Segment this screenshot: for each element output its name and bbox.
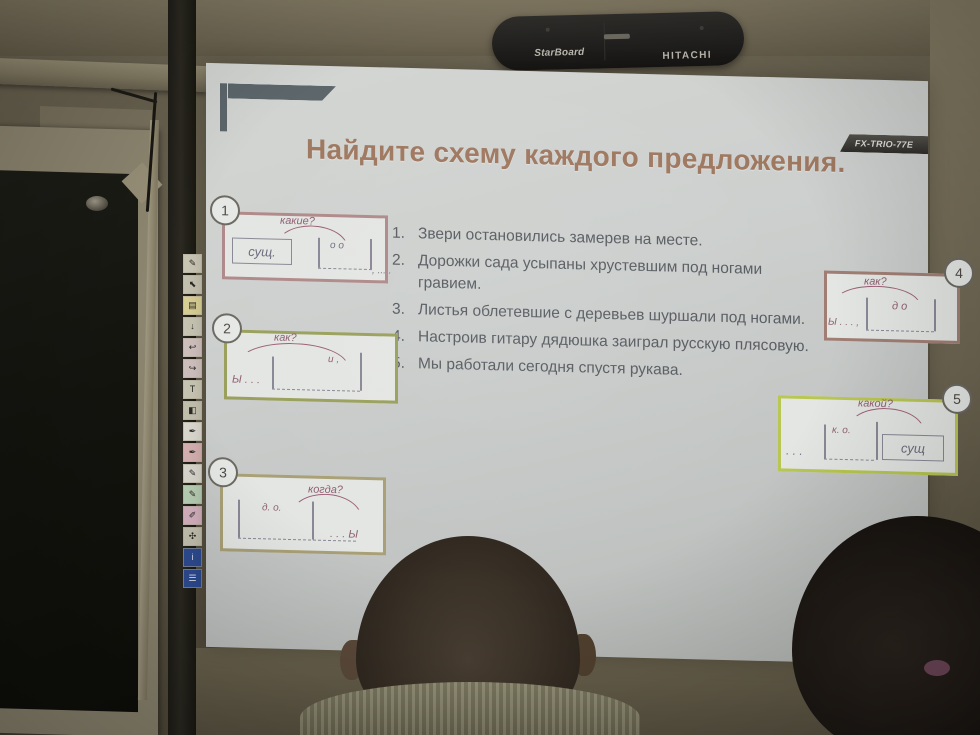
sensor-bar-seam [604,22,606,60]
scheme-card-1[interactable]: 1 сущ. какие? о о , ... . [222,211,388,283]
sensor-dot-left [546,28,550,32]
select-tool-icon[interactable]: ⬉ [183,275,202,294]
scheme-2-question: как? [274,332,297,345]
scheme-3-tail: . . . Ы [330,528,358,541]
eraser-icon[interactable]: ◧ [183,401,202,420]
pen-red-icon[interactable]: ✒ [183,443,202,462]
pen-pink-icon[interactable]: ✐ [183,506,202,525]
redo-arrow-icon[interactable]: ↪ [183,359,202,378]
slide-accent-vbar [220,83,227,131]
scheme-5-tail: . . . [786,444,803,458]
toolbar-icon-glyph: ✎ [189,490,197,499]
pen-tool-icon[interactable]: ✎ [183,254,202,273]
scheme-5-marks: к. о. [832,425,851,436]
scheme-badge-3: 3 [208,457,238,488]
sentence-text: Звери остановились замерев на месте. [418,223,812,255]
settings-blue-icon[interactable]: ☰ [183,569,202,588]
classroom-scene: ✎⬉▤↓↩↪T◧✒✒✎✎✐✣i☰ StarBoard HITACHI FX-TR… [0,0,980,735]
scheme-badge-1: 1 [210,195,240,226]
hitachi-logo-label: HITACHI [662,50,712,62]
sentence-text: Настроив гитару дядюшка заиграл русскую … [418,326,812,358]
scheme-4-question: как? [864,276,887,289]
scheme-2-tail: Ы . . . [232,374,260,387]
slide-accent-bar [228,83,336,101]
note-tool-icon[interactable]: ▤ [183,296,202,315]
scheme-2-vbar-right [360,353,362,391]
sentence-number: 3. [392,299,408,321]
toolbar-icon-glyph: ✒ [189,427,197,436]
toolbar-icon-glyph: ✒ [189,448,197,457]
chalkboard-knob [86,196,108,211]
scheme-5-vbar-left [824,425,826,459]
toolbar-icon-glyph: ↩ [189,343,197,352]
toolbar-icon-glyph: ✣ [189,532,197,541]
scheme-card-5[interactable]: 5 сущ какой? к. о. . . . [778,395,958,476]
pen-black-icon[interactable]: ✒ [183,422,202,441]
scheme-3-marks: д. о. [262,502,281,513]
sentence-list: 1.Звери остановились замерев на месте.2.… [392,223,812,391]
toolbar-icon-glyph: ☰ [188,574,196,583]
scheme-4-vbar-right [934,299,936,331]
scheme-1-tail: , ... . [372,265,391,276]
scheme-border-2 [224,329,398,403]
scheme-badge-5: 5 [942,383,972,414]
sentence-text: Дорожки сада усыпаны хрустевшим под нога… [418,250,812,304]
toolbar-icon-glyph: ✐ [189,511,197,520]
scheme-2-marks: и , [328,354,339,365]
toolbar-icon-glyph: ↪ [189,364,197,373]
slide-title: Найдите схему каждого предложения. [306,133,906,180]
toolbar-icon-glyph: ⬉ [189,280,197,289]
starboard-toolbar[interactable]: ✎⬉▤↓↩↪T◧✒✒✎✎✐✣i☰ [183,254,204,588]
scheme-badge-4: 4 [944,258,974,289]
chalkboard-surface [0,170,138,712]
toolbar-icon-glyph: T [190,385,196,394]
info-blue-icon[interactable]: i [183,548,202,567]
hair-tie [924,660,950,676]
sentence-text: Листья облетевшие с деревьев шуршали под… [418,299,812,331]
toolbar-icon-glyph: ✎ [189,469,197,478]
sentence-text: Мы работали сегодня спустя рукава. [418,353,812,385]
scheme-5-noun-box: сущ [882,434,944,462]
pen-dark-icon[interactable]: ✎ [183,464,202,483]
toolbar-icon-glyph: ✎ [189,259,197,268]
sensor-window [604,34,630,40]
scheme-3-question: когда? [308,483,343,496]
scheme-4-marks: д о [892,300,907,312]
scheme-3-vbar-left [238,500,240,538]
toolbar-icon-glyph: ◧ [188,406,197,415]
scheme-4-tail: Ы . . . , [828,317,859,329]
scheme-card-3[interactable]: 3 когда? д. о. . . . Ы [220,473,386,555]
toolbar-icon-glyph: ↓ [190,322,195,331]
scheme-1-marks: о о [330,240,344,251]
sensor-dot-right [700,26,704,30]
starboard-sensor-bar: StarBoard HITACHI [491,11,744,71]
starboard-brand-label: StarBoard [534,47,584,59]
highlighter-icon[interactable]: ✣ [183,527,202,546]
sentence-item: 5.Мы работали сегодня спустя рукава. [392,353,812,386]
scheme-5-question: какой? [858,397,893,410]
undo-arrow-icon[interactable]: ↩ [183,338,202,357]
scheme-1-question: какие? [280,215,315,228]
scheme-card-4[interactable]: 4 как? д о Ы . . . , [824,271,960,344]
scheme-card-2[interactable]: 2 как? и , Ы . . . [224,329,398,403]
sentence-item: 2.Дорожки сада усыпаны хрустевшим под но… [392,250,812,305]
toolbar-icon-glyph: i [192,553,194,562]
sentence-number: 2. [392,250,408,294]
toolbar-icon-glyph: ▤ [188,301,197,310]
text-tool-icon[interactable]: T [183,380,202,399]
download-arrow-icon[interactable]: ↓ [183,317,202,336]
pen-green-icon[interactable]: ✎ [183,485,202,504]
sentence-number: 1. [392,223,408,245]
scheme-badge-2: 2 [212,313,242,344]
